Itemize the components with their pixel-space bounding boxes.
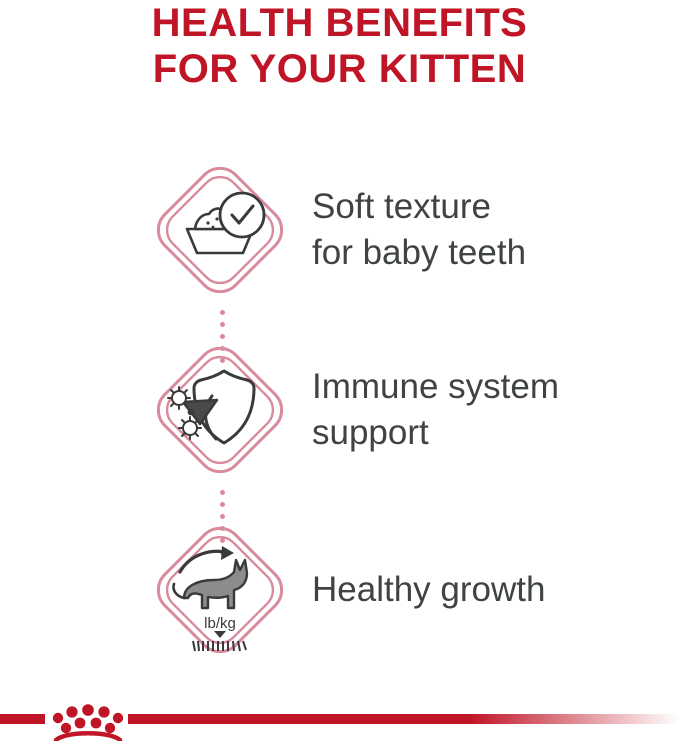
cat-growth-scale-icon: lb/kg bbox=[150, 520, 290, 660]
benefit-icon-cell bbox=[140, 140, 300, 320]
benefits-list: Soft texture for baby teeth bbox=[0, 140, 679, 680]
food-bowl-check-icon bbox=[150, 160, 290, 300]
page-title: HEALTH BENEFITS FOR YOUR KITTEN bbox=[0, 0, 679, 92]
icon-unit-label: lb/kg bbox=[204, 615, 236, 632]
benefit-label: Immune system support bbox=[312, 364, 559, 456]
benefit-item-soft-texture: Soft texture for baby teeth bbox=[0, 140, 679, 320]
page-title-line-2: FOR YOUR KITTEN bbox=[0, 46, 679, 92]
benefit-item-immune-system: Immune system support bbox=[0, 320, 679, 500]
page-title-line-1: HEALTH BENEFITS bbox=[0, 0, 679, 46]
benefit-icon-cell bbox=[140, 320, 300, 500]
benefit-icon-cell: lb/kg bbox=[140, 500, 300, 680]
benefit-label: Healthy growth bbox=[312, 567, 545, 613]
benefit-item-healthy-growth: lb/kg bbox=[0, 500, 679, 680]
royal-canin-crown-logo bbox=[0, 670, 679, 741]
shield-germs-icon bbox=[150, 340, 290, 480]
benefit-label: Soft texture for baby teeth bbox=[312, 184, 526, 276]
